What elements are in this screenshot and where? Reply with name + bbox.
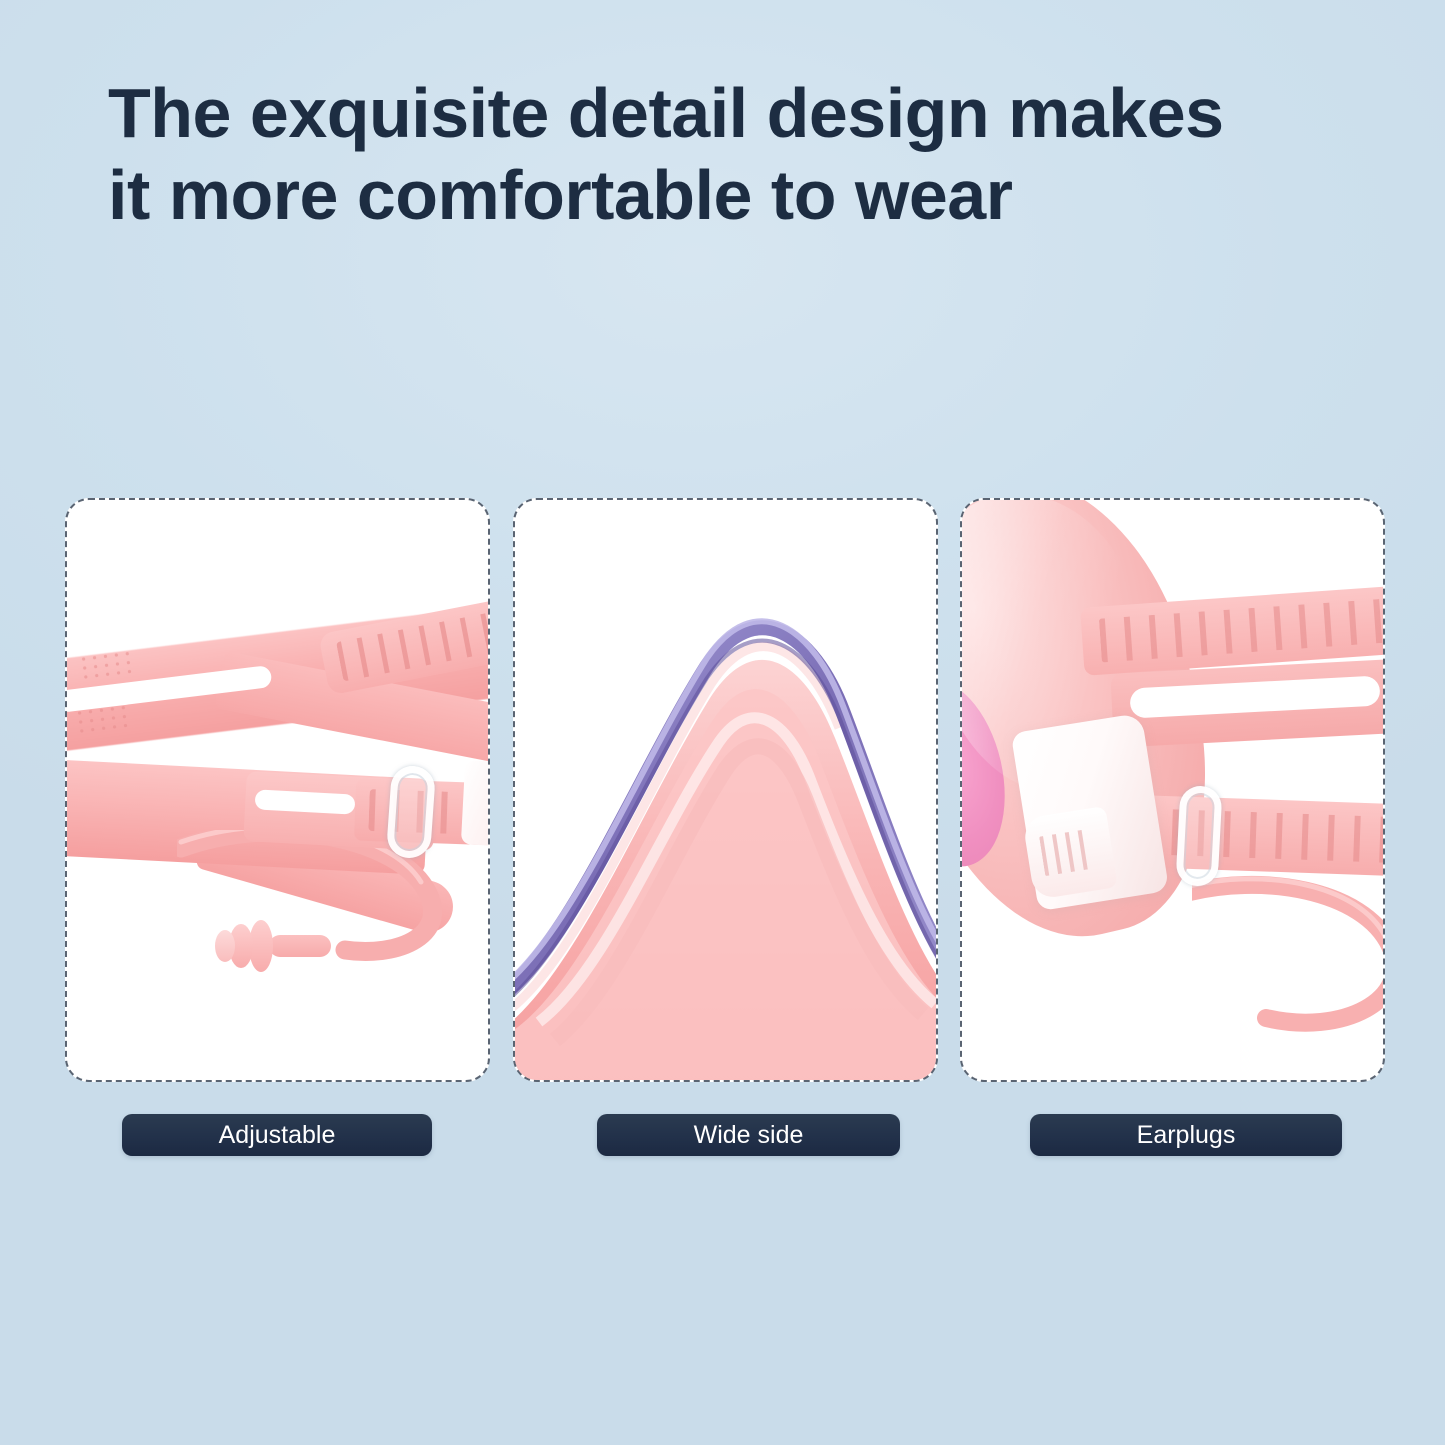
caption-pill-wide-side[interactable]: Wide side <box>597 1114 900 1156</box>
ratchet-strap-lower <box>1129 795 1383 877</box>
clear-slider-ring <box>386 765 436 860</box>
feature-panel-row <box>65 498 1385 1082</box>
nose-bridge-arch <box>515 570 936 1080</box>
product-photo-wide-side <box>515 500 936 1080</box>
white-side-clip <box>461 760 488 848</box>
caption-pill-earplugs[interactable]: Earplugs <box>1030 1114 1342 1156</box>
product-photo-adjustable <box>67 500 488 1080</box>
caption-pill-row: Adjustable Wide side Earplugs <box>65 1114 1385 1158</box>
product-photo-earplugs <box>962 500 1383 1080</box>
earplug-flange <box>215 930 235 962</box>
page-title: The exquisite detail design makes it mor… <box>108 72 1398 236</box>
clear-slider-ring <box>1175 785 1222 887</box>
feature-panel-adjustable[interactable] <box>65 498 490 1082</box>
feature-panel-wide-side[interactable] <box>513 498 938 1082</box>
earplug-cord <box>1192 868 1383 1048</box>
earplug-stem <box>269 935 331 957</box>
clip-release-tab <box>1022 806 1118 900</box>
feature-panel-earplugs[interactable] <box>960 498 1385 1082</box>
earplug <box>215 918 327 974</box>
earplug-cord <box>177 830 477 1000</box>
caption-pill-adjustable[interactable]: Adjustable <box>122 1114 432 1156</box>
